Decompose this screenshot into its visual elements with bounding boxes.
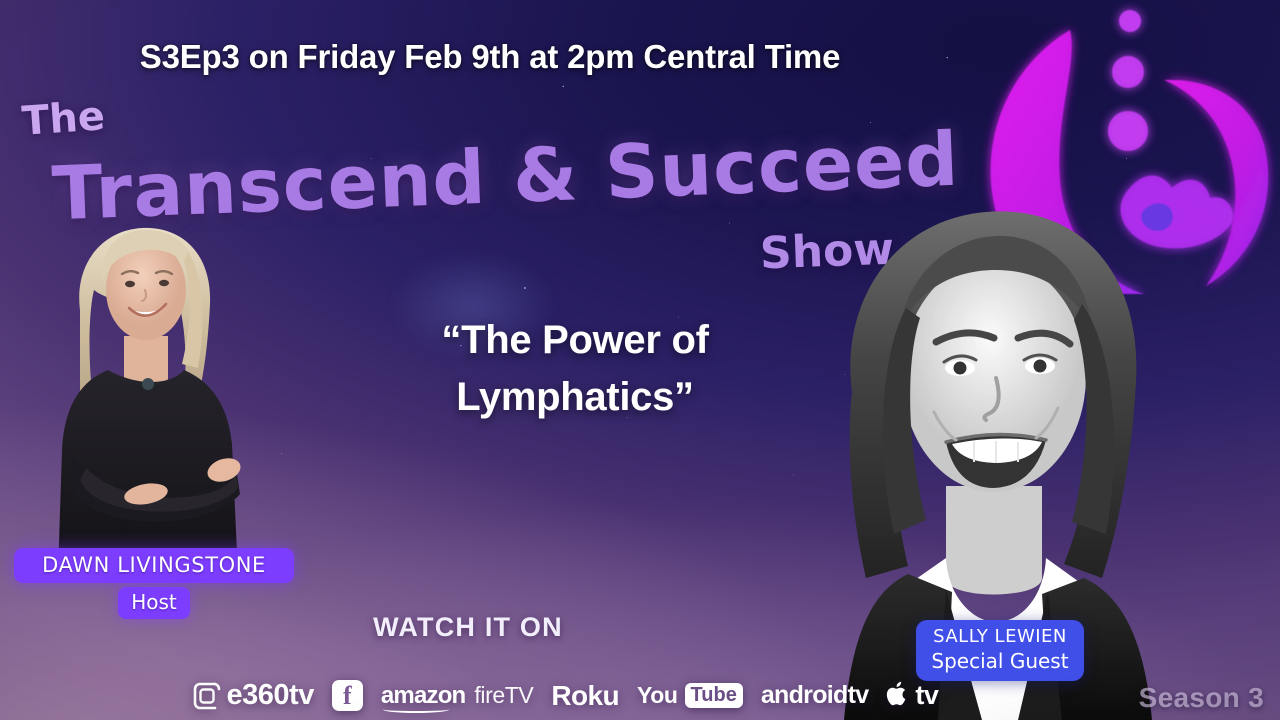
platform-appletv[interactable]: tv	[886, 680, 938, 712]
appletv-label: tv	[915, 680, 938, 711]
firetv-label: fireTV	[474, 682, 533, 709]
episode-title-line-1: “The Power of	[330, 312, 820, 369]
guest-role: Special Guest	[924, 649, 1076, 673]
youtube-icon: You	[637, 682, 678, 709]
platform-facebook[interactable]: f	[332, 680, 363, 711]
guest-nameplate: SALLY LEWIEN Special Guest	[916, 620, 1084, 681]
platform-roku[interactable]: Roku	[551, 680, 619, 712]
e360tv-icon	[192, 681, 222, 711]
schedule-headline: S3Ep3 on Friday Feb 9th at 2pm Central T…	[0, 38, 1280, 76]
facebook-icon: f	[332, 680, 363, 711]
host-nameplate: DAWN LIVINGSTONE Host	[14, 548, 294, 619]
watch-it-on-label: WATCH IT ON	[248, 612, 688, 643]
amazon-label: amazon	[381, 682, 466, 709]
host-role: Host	[118, 587, 190, 619]
season-label: Season 3	[1139, 682, 1264, 714]
host-name: DAWN LIVINGSTONE	[14, 548, 294, 583]
platform-amazon-firetv[interactable]: amazon fireTV	[381, 682, 534, 710]
amazon-smile-icon	[383, 706, 450, 713]
androidtv-icon: androidtv	[761, 681, 869, 710]
platform-logo-row: e360tv f amazon fireTV Roku You Tube and…	[0, 679, 1280, 712]
host-portrait	[28, 218, 290, 588]
platform-youtube[interactable]: You Tube	[637, 682, 743, 709]
platform-androidtv[interactable]: androidtv	[761, 681, 869, 710]
episode-title: “The Power of Lymphatics”	[330, 312, 820, 426]
roku-icon: Roku	[551, 680, 619, 712]
guest-name: SALLY LEWIEN	[924, 626, 1076, 647]
e360tv-label: e360tv	[227, 679, 314, 712]
promo-graphic: S3Ep3 on Friday Feb 9th at 2pm Central T…	[0, 0, 1280, 720]
amazon-icon: amazon	[381, 682, 466, 710]
episode-title-line-2: Lymphatics”	[330, 369, 820, 426]
youtube-tube-label: Tube	[685, 683, 743, 708]
platform-e360tv[interactable]: e360tv	[192, 679, 314, 712]
apple-icon	[886, 680, 910, 712]
